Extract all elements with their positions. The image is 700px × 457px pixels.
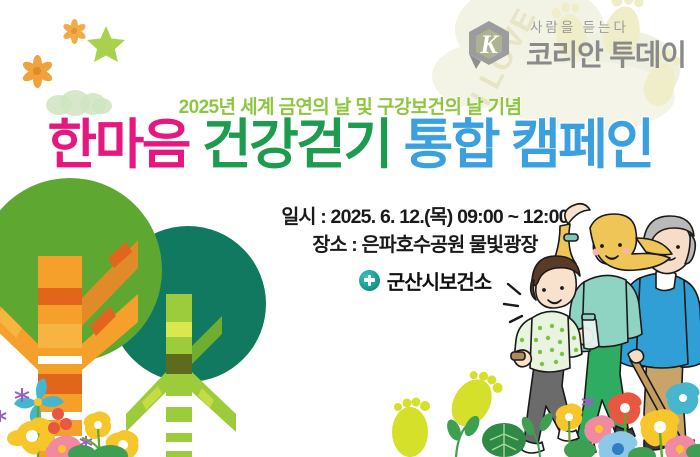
- title-word-3: 통합: [404, 118, 498, 172]
- organizer-name: 군산시보건소: [387, 266, 491, 295]
- leaf-sprig-group: [448, 408, 558, 457]
- brand-name: 코리안 투데이: [526, 32, 686, 74]
- title-word-1: 한마음: [47, 118, 189, 172]
- flower-cluster-left: [0, 372, 176, 457]
- title-word-4: 캠페인: [511, 118, 653, 172]
- flower-cluster-right: [556, 386, 700, 457]
- green-footprint-icon: [388, 396, 434, 457]
- logo-letter-k: K: [464, 20, 514, 70]
- orange-flower-icon: [60, 17, 88, 45]
- event-title: 한마음건강걷기통합캠페인: [0, 118, 700, 172]
- campaign-poster: I LOVE: [0, 0, 700, 457]
- green-star-icon: [86, 24, 126, 64]
- korean-today-logo: K 사람을 듣는다 코리안 투데이: [456, 14, 696, 76]
- title-word-2: 건강걷기: [202, 118, 391, 172]
- health-center-cross-icon: [359, 270, 380, 291]
- orange-flower-icon: [18, 52, 56, 90]
